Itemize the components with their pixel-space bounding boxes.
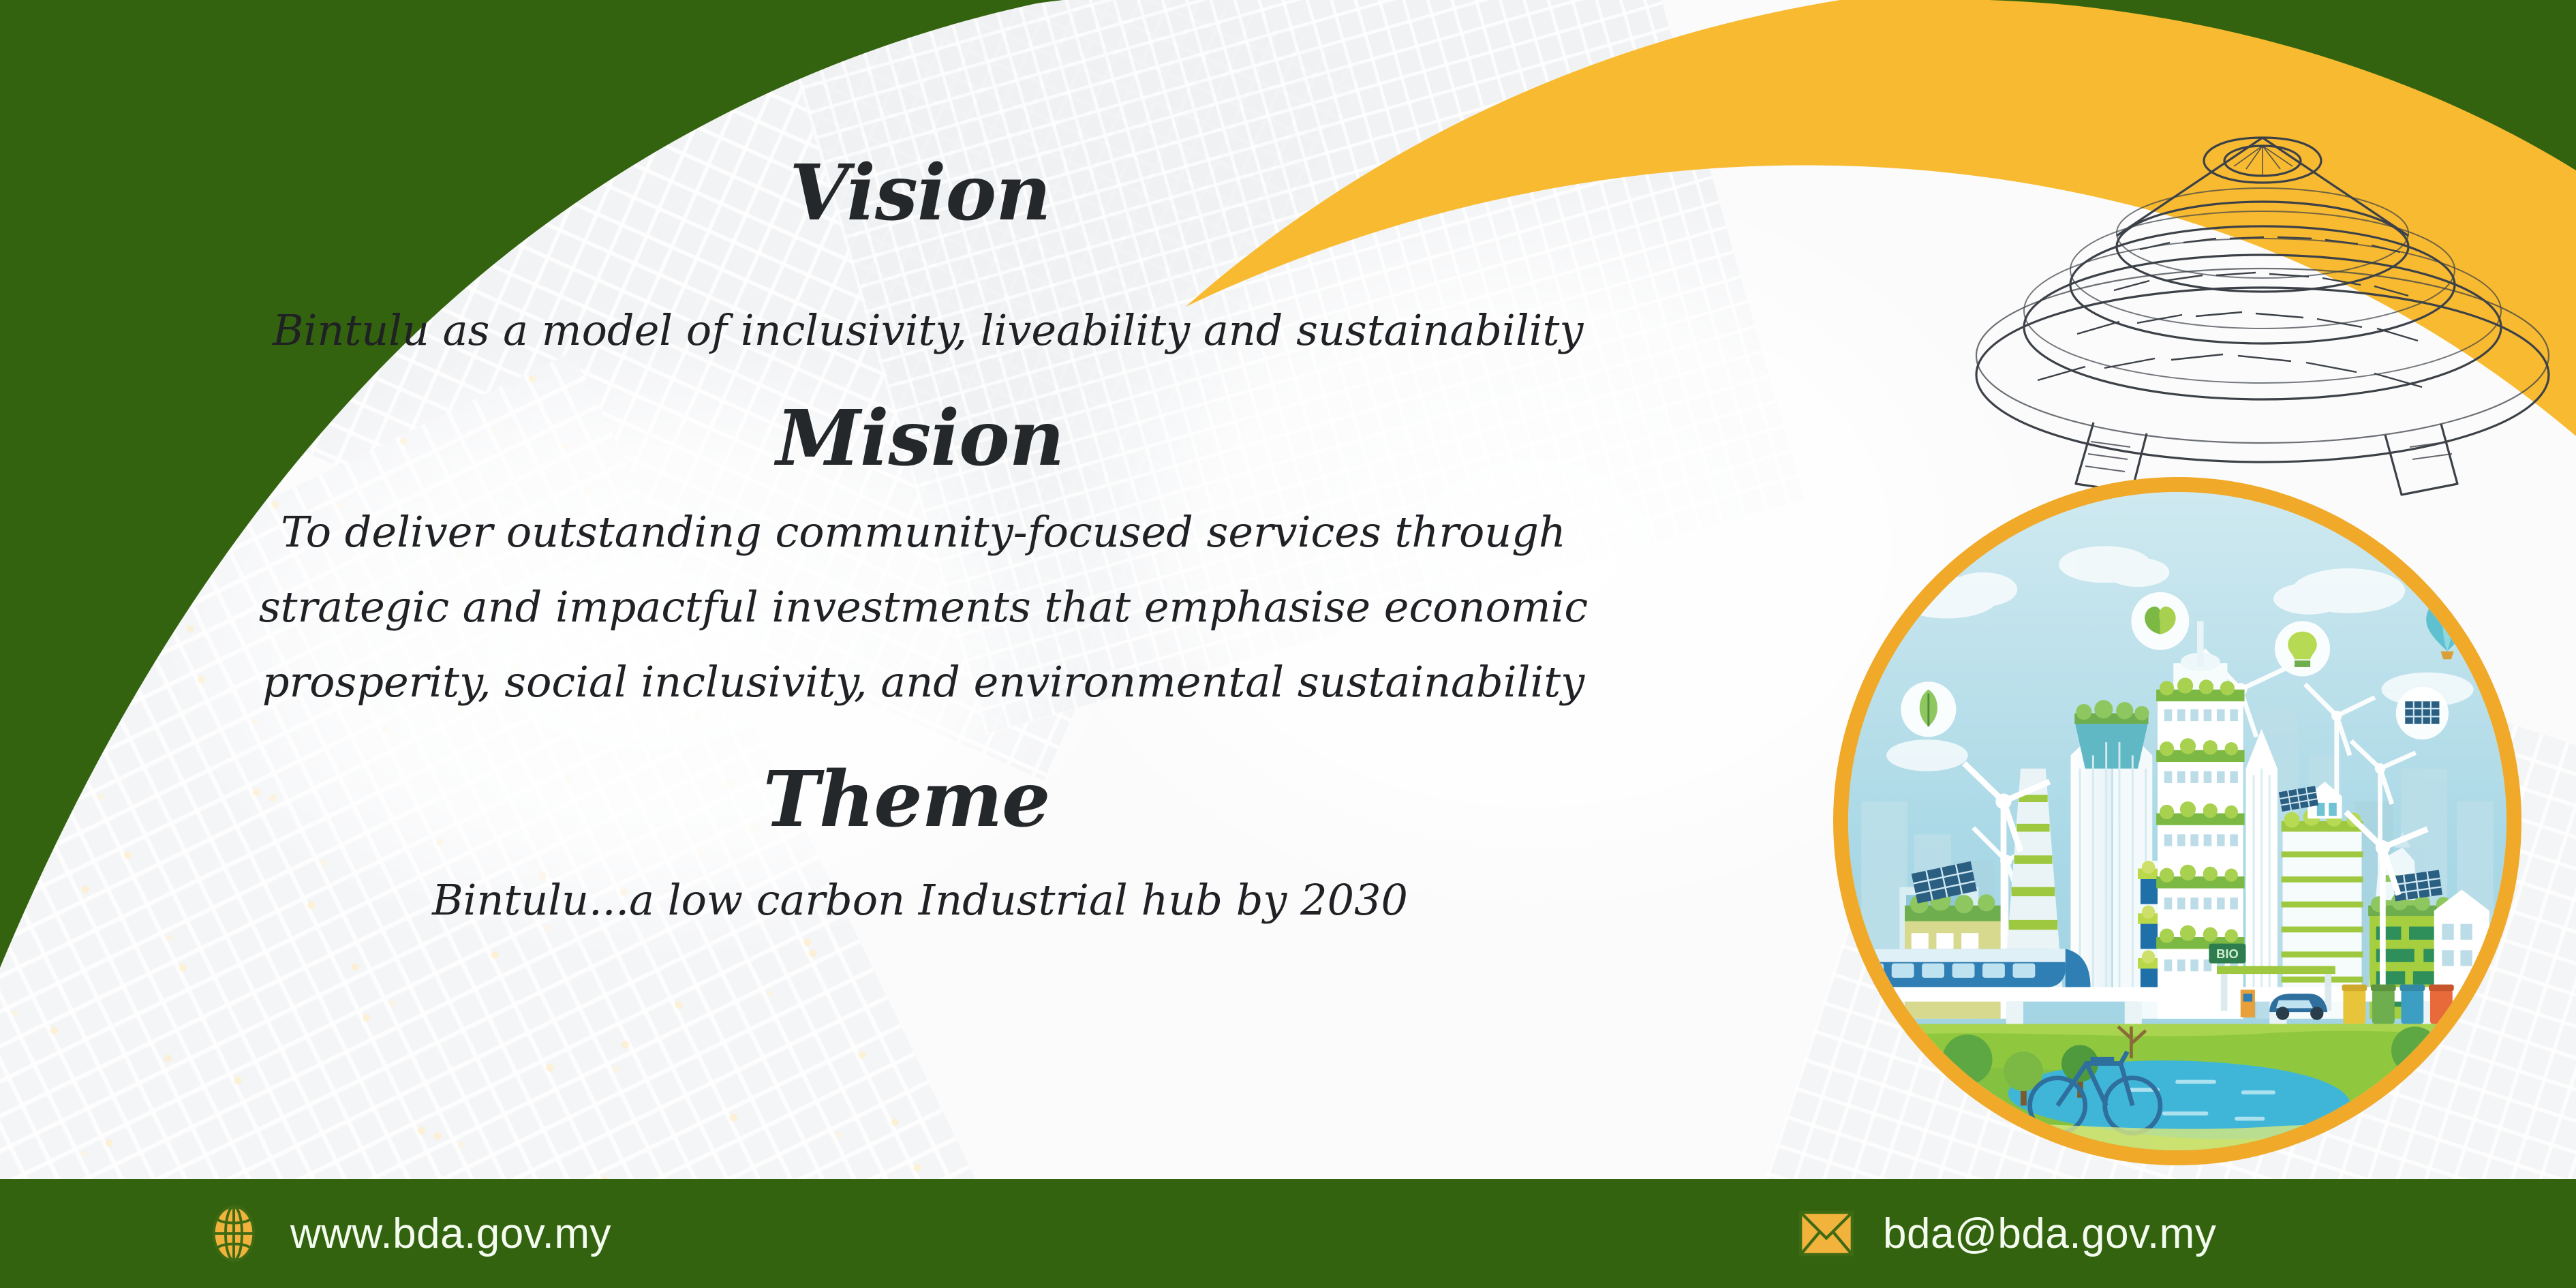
footer-website-item[interactable]: www.bda.gov.my [204, 1204, 611, 1263]
mission-text-line-1: To deliver outstanding community-focused… [225, 510, 1622, 555]
vision-heading: Vision [613, 155, 1227, 232]
svg-text:BIO: BIO [2216, 947, 2239, 961]
globe-icon [204, 1204, 263, 1263]
theme-text: Bintulu...a low carbon Industrial hub by… [273, 878, 1567, 923]
text-content: Vision Bintulu as a model of inclusivity… [0, 0, 1840, 1179]
eco-city-circle-image: BIO [1833, 477, 2521, 1165]
banner-root: BIO [0, 0, 2576, 1288]
footer-bar: www.bda.gov.my bda@bda.gov.my [0, 1179, 2576, 1288]
theme-heading: Theme [600, 762, 1213, 838]
footer-email-text: bda@bda.gov.my [1883, 1210, 2216, 1258]
mission-text-line-2: strategic and impactful investments that… [225, 585, 1622, 630]
dome-building-illustration [1935, 102, 2576, 497]
mission-heading: Mision [613, 401, 1227, 477]
envelope-icon [1797, 1204, 1856, 1263]
footer-website-text: www.bda.gov.my [290, 1210, 611, 1258]
mission-text-line-3: prosperity, social inclusivity, and envi… [225, 660, 1622, 705]
vision-text: Bintulu as a model of inclusivity, livea… [273, 308, 1567, 354]
footer-email-item[interactable]: bda@bda.gov.my [1797, 1204, 2216, 1263]
